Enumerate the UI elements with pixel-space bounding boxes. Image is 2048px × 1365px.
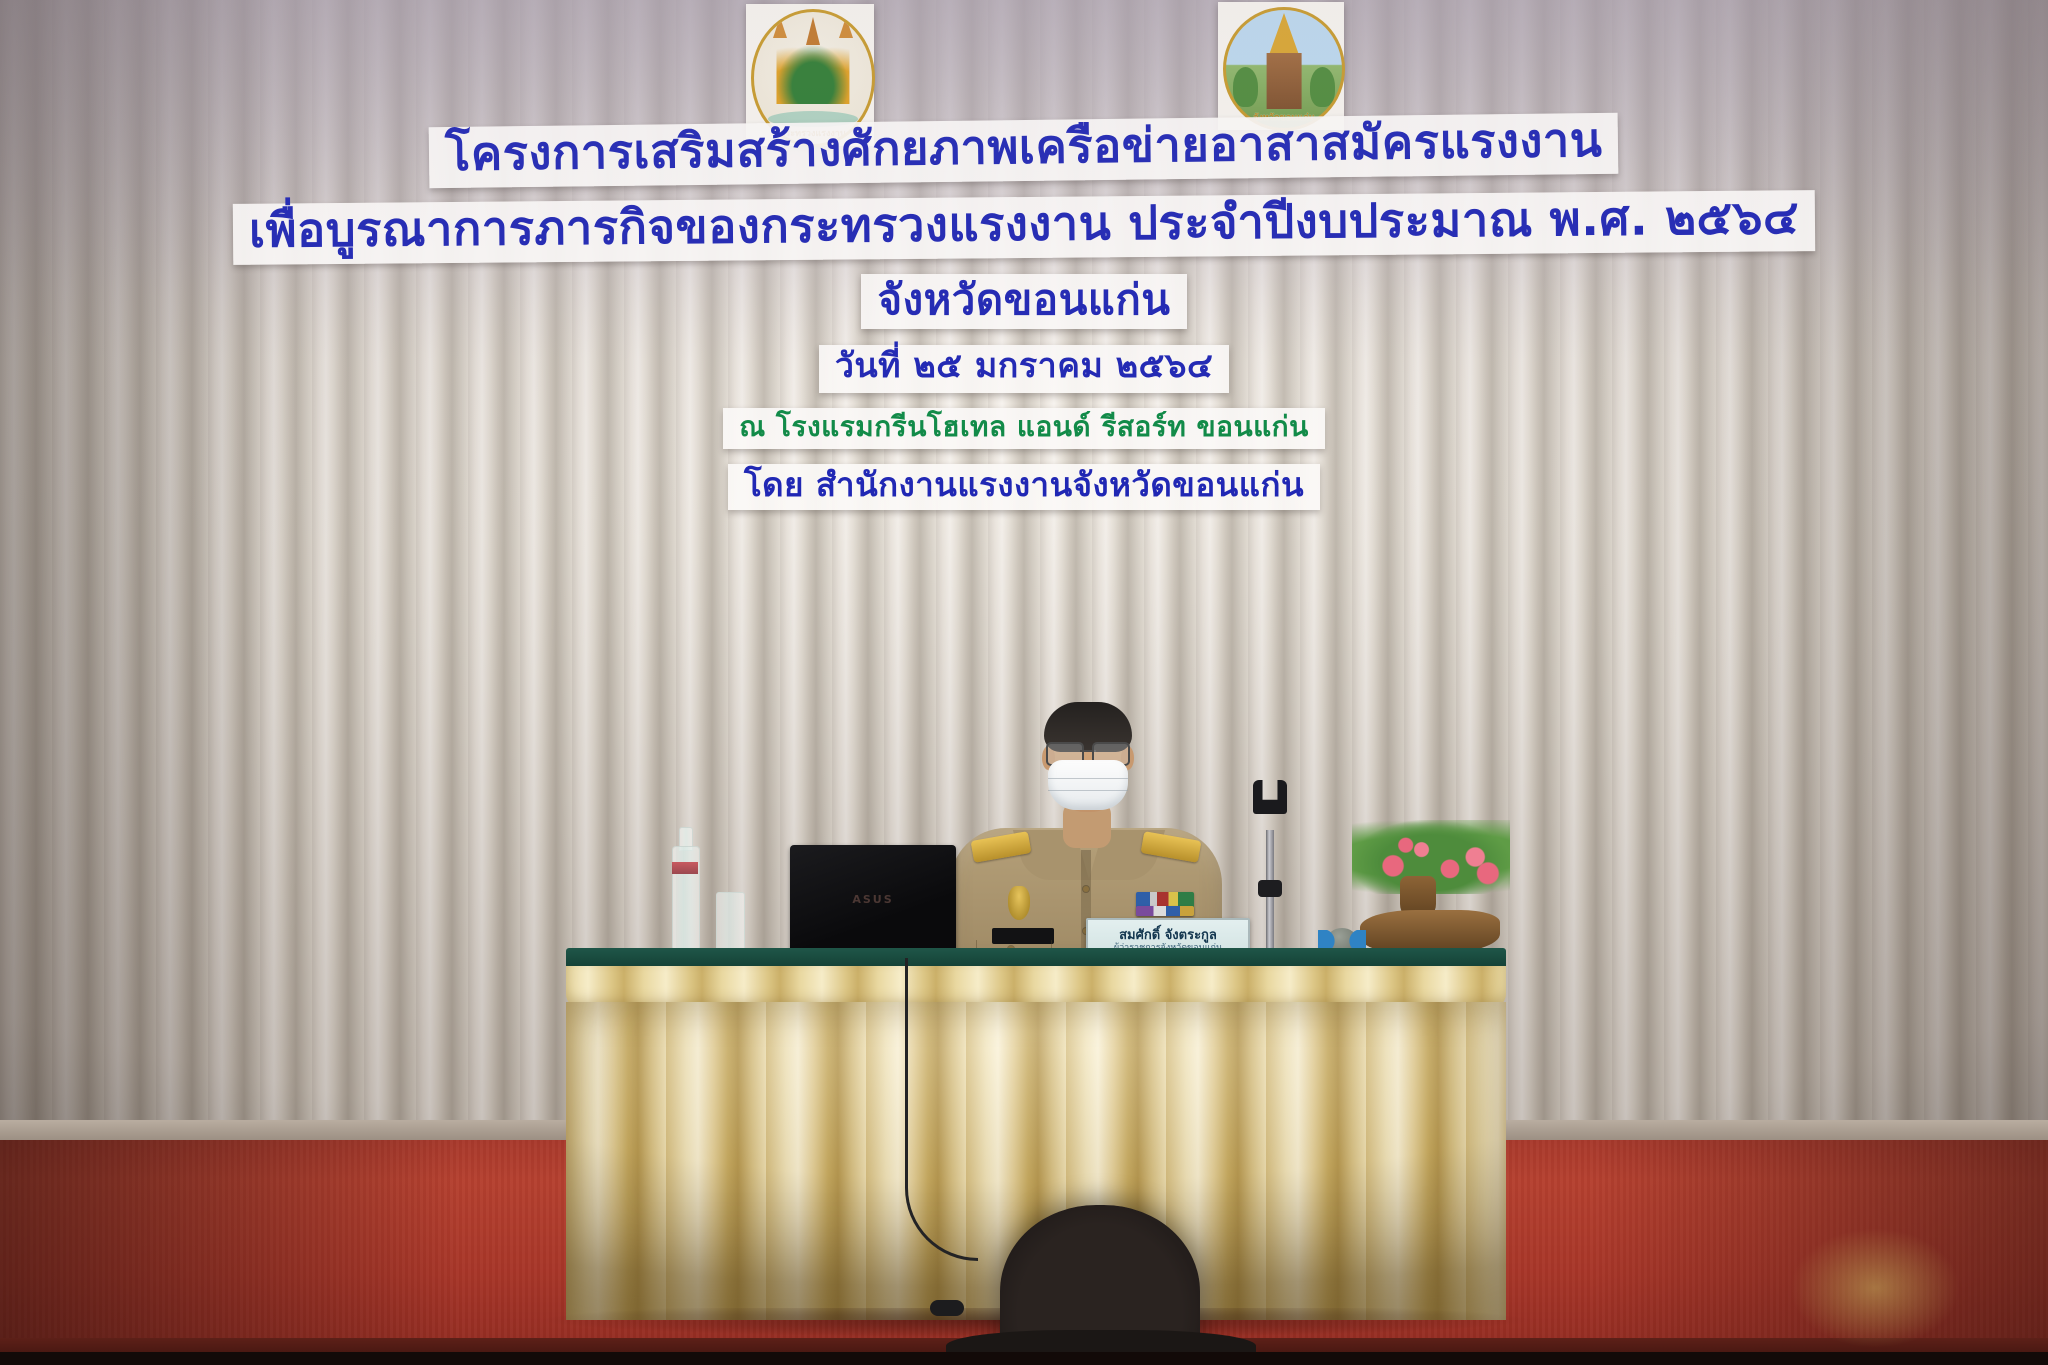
face-mask — [1048, 760, 1128, 810]
power-cable-plug — [930, 1300, 964, 1316]
event-banner: โครงการเสริมสร้างศักยภาพเครือข่ายอาสาสมั… — [0, 120, 2048, 510]
bottom-edge-strip — [0, 1352, 2048, 1365]
banner-line-1: โครงการเสริมสร้างศักยภาพเครือข่ายอาสาสมั… — [429, 113, 1619, 188]
uniform-badge-upper — [1008, 886, 1030, 920]
mask-pleat-1 — [1048, 778, 1128, 779]
banner-line-6-organizer: โดย สำนักงานแรงงานจังหวัดขอนแก่น — [728, 464, 1320, 510]
deity-spire-center-icon — [806, 17, 820, 45]
service-ribbon-bar-row-2 — [1136, 906, 1194, 916]
stage-left-shadow — [0, 1140, 460, 1365]
banner-line-4-date: วันที่ ๒๕ มกราคม ๒๕๖๔ — [819, 345, 1229, 392]
drinking-glass — [716, 892, 745, 954]
tree-left-icon — [1233, 67, 1259, 107]
photograph-scene: กระทรวงแรงงาน จังหวัดขอนแก่น โครงการเสริ… — [0, 0, 2048, 1365]
laptop[interactable]: ASUS — [790, 845, 956, 955]
mask-pleat-2 — [1048, 790, 1128, 791]
phra-that-kham-kaen-stupa-icon: จังหวัดขอนแก่น — [1223, 7, 1345, 131]
stupa-spire-icon — [1269, 13, 1299, 55]
banner-line-2: เพื่อบูรณาการภารกิจของกระทรวงแรงงาน ประจ… — [233, 190, 1816, 265]
deity-spire-right-icon — [839, 17, 853, 38]
deity-figures-icon — [776, 44, 849, 105]
khon-kaen-province-emblem: จังหวัดขอนแก่น — [1218, 2, 1344, 130]
deity-spire-left-icon — [773, 17, 787, 38]
stupa-body-icon — [1267, 53, 1302, 110]
uniform-button-1 — [1083, 886, 1089, 892]
eyeglasses-icon — [1046, 742, 1130, 762]
banner-line-5-venue: ณ โรงแรมกรีนโฮเทล แอนด์ รีสอร์ท ขอนแก่น — [723, 408, 1325, 449]
water-bottle-label — [672, 862, 698, 874]
foreground-blur-right — [1790, 1228, 1960, 1348]
nameplate-name: สมศักดิ์ จังตระกูล — [1119, 929, 1217, 942]
laptop-brand-logo: ASUS — [790, 893, 956, 906]
tree-right-icon — [1310, 67, 1336, 107]
power-cable — [905, 958, 978, 1261]
banner-line-3: จังหวัดขอนแก่น — [861, 274, 1186, 330]
microphone-stand-knob[interactable] — [1258, 880, 1282, 897]
